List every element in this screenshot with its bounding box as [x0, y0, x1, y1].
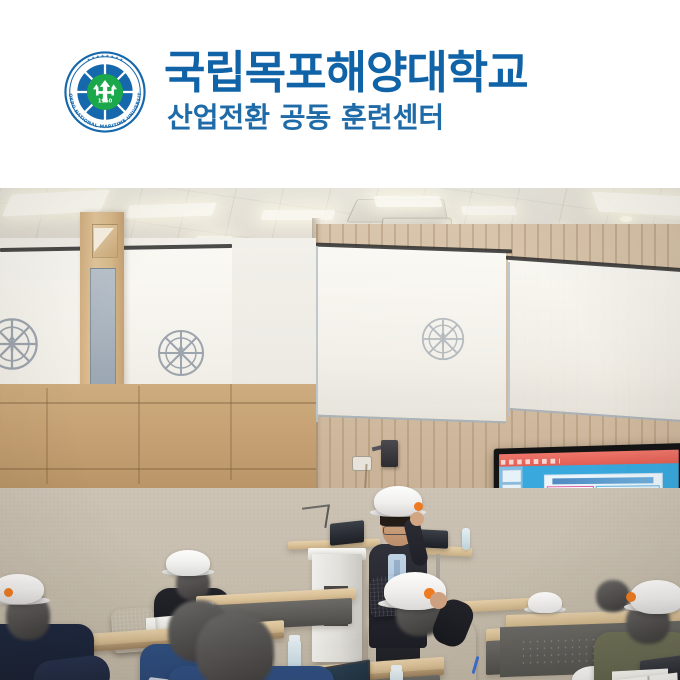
- pillar-acoustic-panel: [90, 268, 116, 392]
- window-blind: [508, 258, 680, 422]
- window-blind: [316, 245, 506, 424]
- svg-text:1950: 1950: [98, 98, 113, 104]
- promo-card: 1950 MOKPO NATIONAL MARITIME UNIVERSITY …: [0, 0, 680, 680]
- pillar-triangle-accent: [94, 228, 114, 252]
- water-bottle: [462, 528, 470, 550]
- wall-emblem-icon: [156, 328, 206, 378]
- safety-helmet: [528, 592, 562, 613]
- trainee-hand: [430, 592, 447, 609]
- wordmark: 국립목포해양대학교 산업전환 공동 훈련센터: [164, 50, 528, 134]
- helmet-adjust-dial: [626, 592, 636, 602]
- ceiling-downlight: [620, 216, 632, 222]
- instructor-hand: [410, 512, 424, 526]
- helmet-adjust-dial: [414, 502, 423, 511]
- institution-title: 국립목포해양대학교: [164, 50, 528, 96]
- wainscot-divider: [138, 386, 140, 484]
- wall-speaker: [381, 440, 398, 467]
- water-bottle: [390, 670, 403, 680]
- projector-mount: [352, 456, 372, 471]
- instructor-laptop: [330, 520, 364, 546]
- helmet-adjust-dial: [4, 588, 13, 597]
- safety-helmet: [630, 580, 680, 614]
- slide-title-bar: [552, 477, 653, 484]
- center-subtitle: 산업전환 공동 훈련센터: [167, 103, 528, 134]
- bottle-cap: [289, 635, 300, 641]
- blind-seam: [508, 262, 510, 416]
- bottle-cap: [391, 665, 402, 671]
- university-seal-logo: 1950 MOKPO NATIONAL MARITIME UNIVERSITY …: [62, 49, 148, 135]
- wall-emblem-icon: [0, 316, 40, 372]
- ceiling-light: [373, 196, 442, 207]
- header-band: 1950 MOKPO NATIONAL MARITIME UNIVERSITY …: [0, 0, 680, 188]
- wainscot-divider: [46, 388, 48, 484]
- trainee-head-blurred: [196, 612, 274, 680]
- wainscot-divider: [230, 384, 232, 480]
- classroom-training-photo: [0, 188, 680, 680]
- wall-emblem-icon: [420, 316, 466, 362]
- ceiling-light: [461, 206, 517, 215]
- ceiling-light: [261, 210, 336, 220]
- blind-seam: [316, 246, 318, 422]
- safety-helmet: [166, 550, 210, 576]
